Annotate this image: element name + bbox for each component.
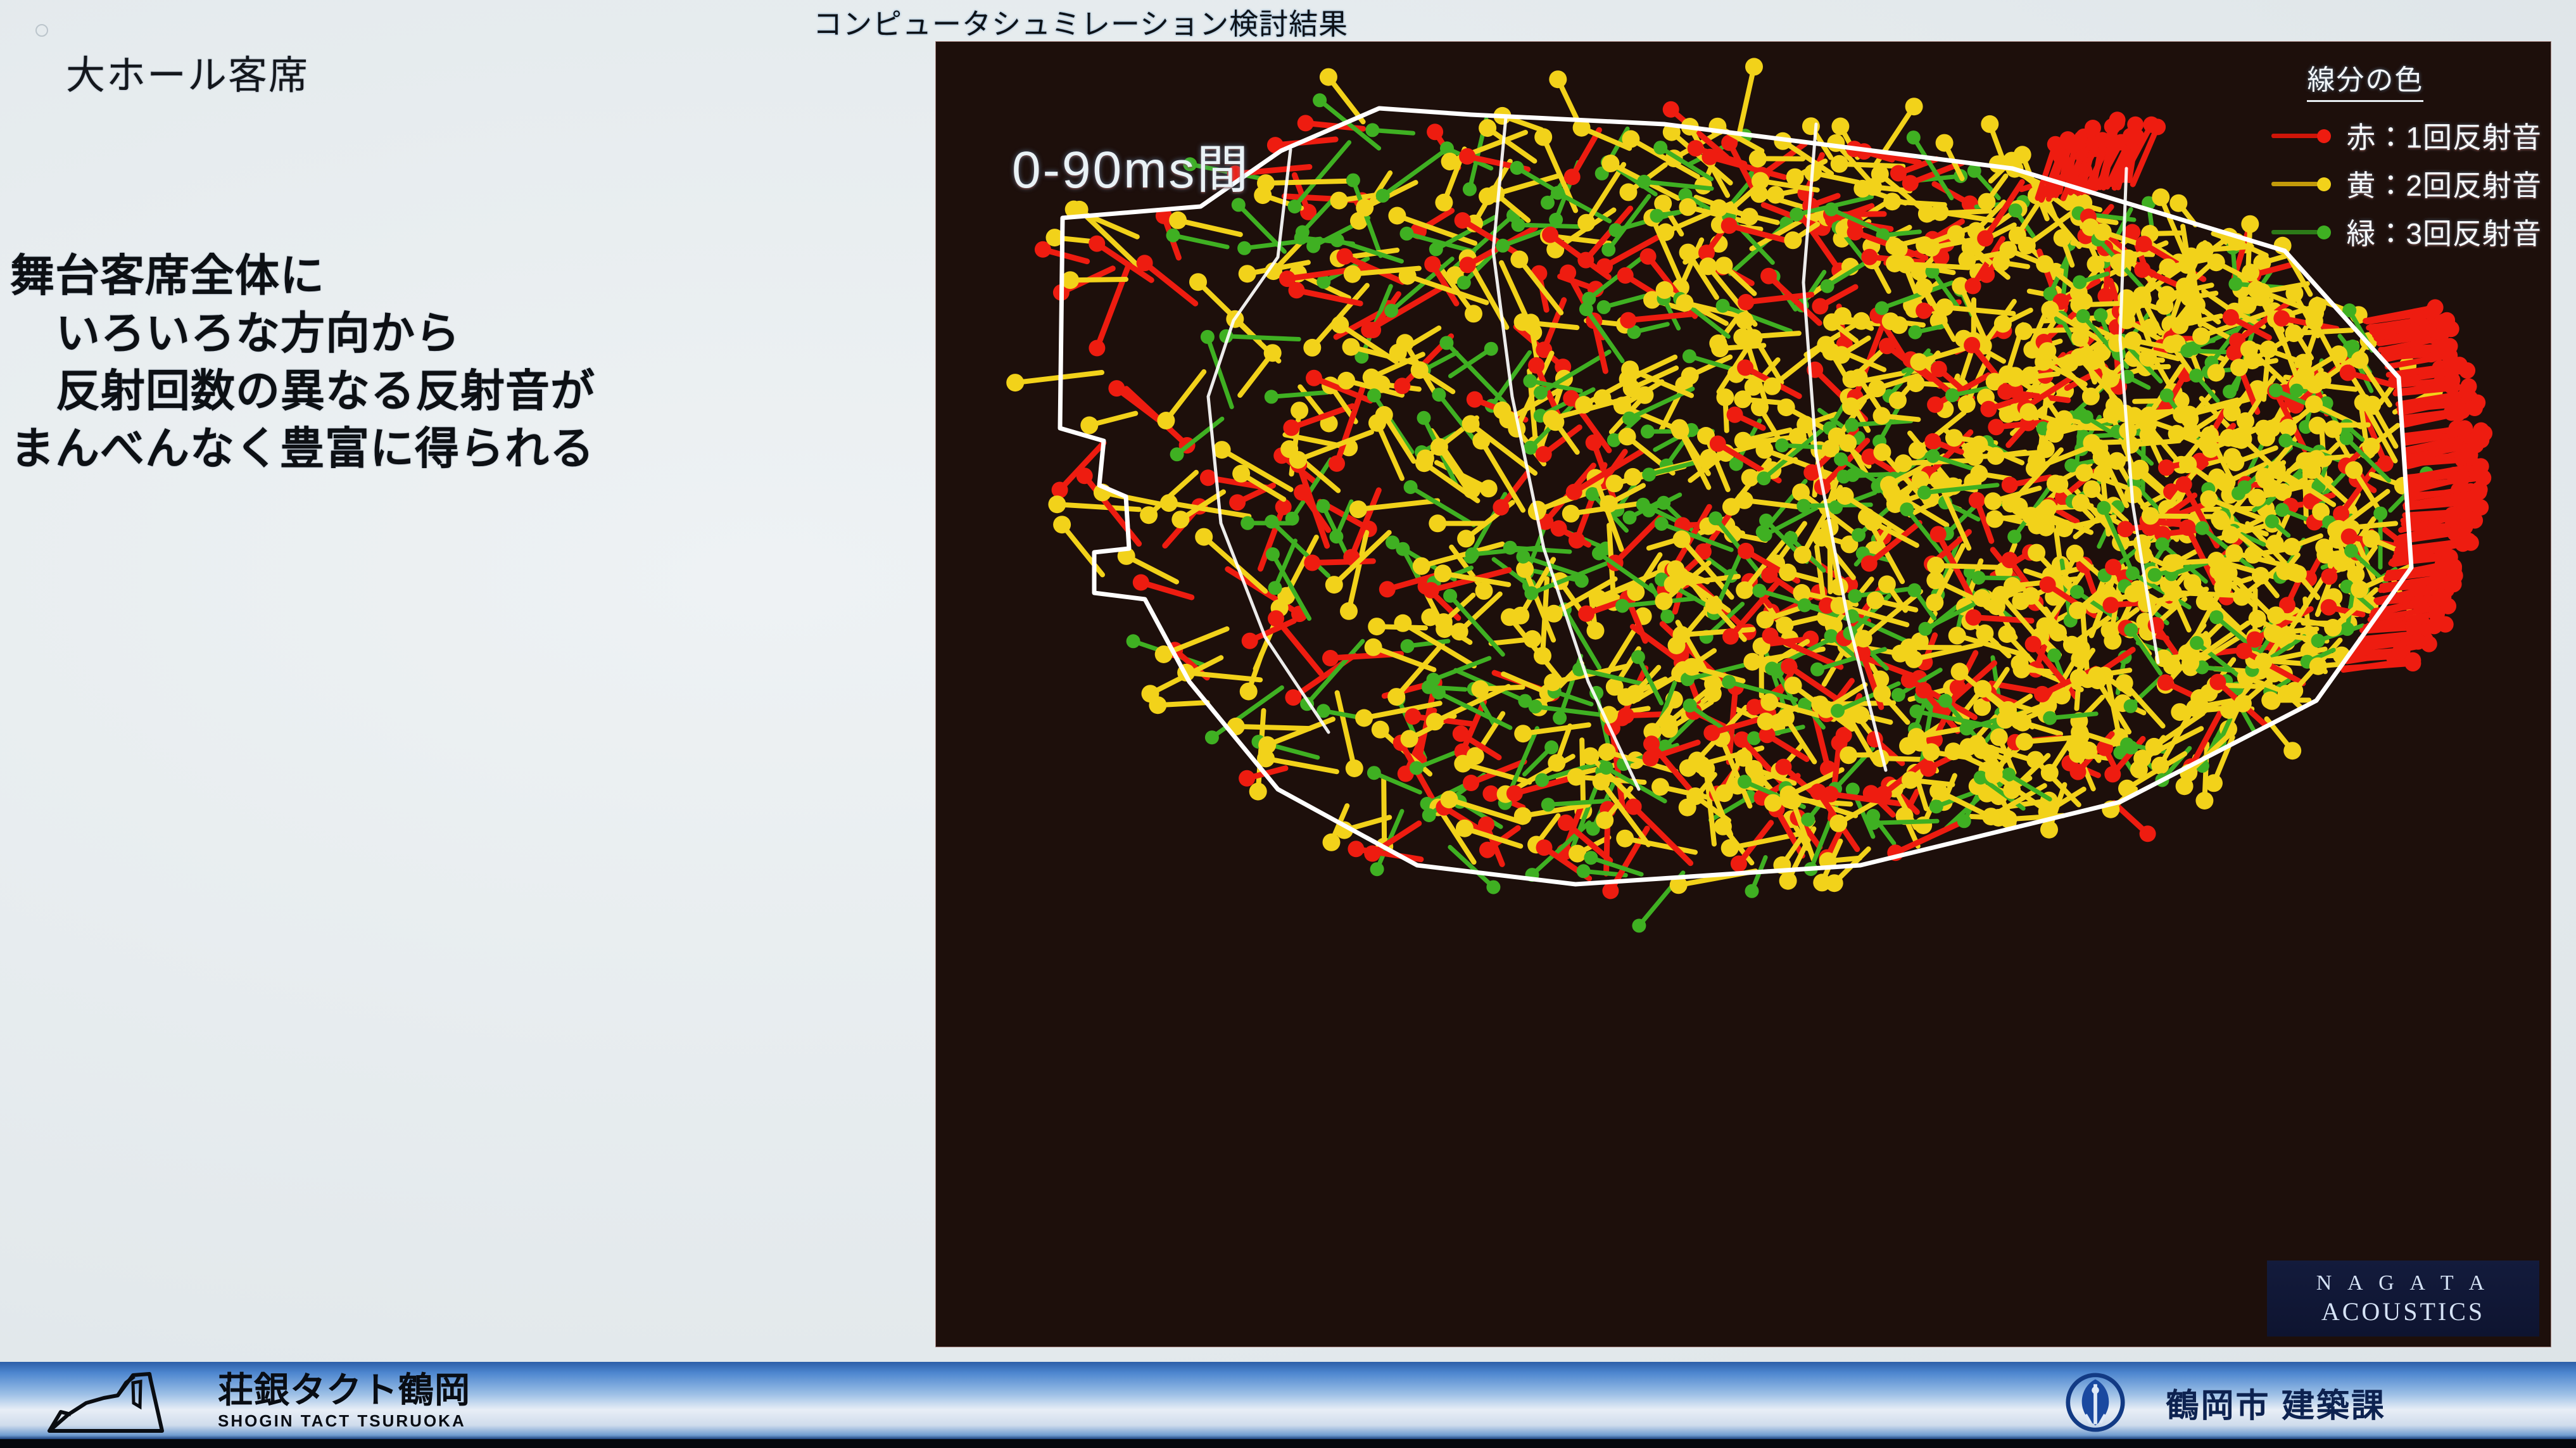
venue-branding: 荘銀タクト鶴岡 SHOGIN TACT TSURUOKA: [38, 1368, 470, 1435]
legend-swatch-red-icon: [2266, 126, 2337, 145]
mountain-logo-icon: [38, 1370, 209, 1433]
nagata-logo-line-1: N A G A T A: [2316, 1271, 2490, 1295]
legend-label-yellow: 黄：2回反射音: [2346, 163, 2542, 205]
footer-bar: 荘銀タクト鶴岡 SHOGIN TACT TSURUOKA 鶴岡市 建築課: [0, 1362, 2576, 1448]
legend-swatch-green-icon: [2266, 222, 2337, 241]
legend-label-green: 緑：3回反射音: [2346, 211, 2542, 253]
presentation-slide: 大ホール客席 舞台客席全体に いろいろな方向から 反射回数の異なる反射音が まん…: [0, 0, 2576, 1448]
simulation-panel: 0-90ms間 線分の色 赤：1回反射音 黄：2回反射音: [936, 42, 2551, 1347]
city-branding: 鶴岡市 建築課: [2065, 1371, 2386, 1434]
body-text-block: 舞台客席全体に いろいろな方向から 反射回数の異なる反射音が まんべんなく豊富に…: [10, 247, 909, 478]
time-window-label: 0-90ms間: [1012, 127, 1250, 203]
legend: 線分の色 赤：1回反射音 黄：2回反射音: [2266, 57, 2542, 259]
legend-item-yellow: 黄：2回反射音: [2266, 163, 2542, 205]
body-line-3: 反射回数の異なる反射音が: [10, 362, 909, 420]
legend-item-red: 赤：1回反射音: [2266, 115, 2542, 156]
body-line-2: いろいろな方向から: [10, 305, 909, 362]
legend-item-green: 緑：3回反射音: [2266, 211, 2542, 253]
nagata-acoustics-logo: N A G A T A ACOUSTICS: [2267, 1261, 2539, 1337]
banner-title: コンピュータシュミレーション検討結果: [813, 1, 1348, 43]
registration-dot-icon: [35, 24, 48, 37]
city-dept-name: 鶴岡市 建築課: [2166, 1379, 2386, 1426]
venue-name-block: 荘銀タクト鶴岡 SHOGIN TACT TSURUOKA: [218, 1373, 470, 1431]
body-line-1: 舞台客席全体に: [10, 247, 909, 305]
venue-name-en: SHOGIN TACT TSURUOKA: [218, 1411, 470, 1431]
venue-name-jp: 荘銀タクト鶴岡: [218, 1373, 470, 1408]
legend-swatch-yellow-icon: [2266, 174, 2337, 193]
tsuruoka-city-emblem-icon: [2065, 1372, 2126, 1433]
legend-title: 線分の色: [2307, 57, 2423, 102]
body-line-4: まんべんなく豊富に得られる: [10, 420, 909, 478]
page-title: 大ホール客席: [66, 43, 309, 100]
nagata-logo-line-2: ACOUSTICS: [2321, 1297, 2485, 1326]
legend-label-red: 赤：1回反射音: [2346, 115, 2542, 156]
